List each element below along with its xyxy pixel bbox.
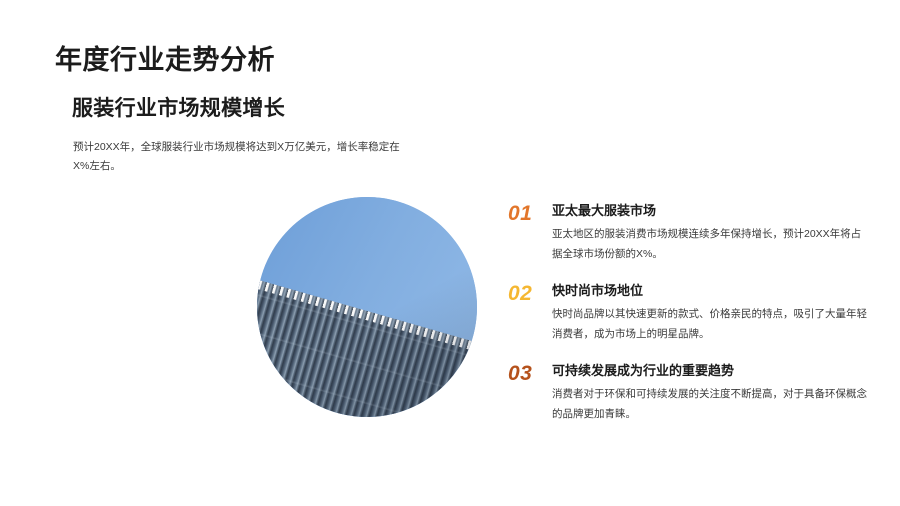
point-desc-02: 快时尚品牌以其快速更新的款式、价格亲民的特点，吸引了大量年轻消费者，成为市场上的… bbox=[552, 305, 868, 344]
point-desc-01: 亚太地区的服装消费市场规模连续多年保持增长，预计20XX年将占据全球市场份额的X… bbox=[552, 225, 868, 264]
point-number-01: 01 bbox=[508, 203, 532, 224]
photo-shading-overlay bbox=[257, 197, 477, 417]
section-body-text: 预计20XX年，全球服装行业市场规模将达到X万亿美元，增长率稳定在X%左右。 bbox=[73, 138, 403, 177]
point-title-03: 可持续发展成为行业的重要趋势 bbox=[552, 363, 868, 379]
point-title-02: 快时尚市场地位 bbox=[552, 283, 868, 299]
point-title-01: 亚太最大服装市场 bbox=[552, 203, 868, 219]
page-title: 年度行业走势分析 bbox=[55, 38, 275, 77]
point-desc-03: 消费者对于环保和可持续发展的关注度不断提高，对于具备环保概念的品牌更加青睐。 bbox=[552, 385, 868, 424]
point-number-02: 02 bbox=[508, 283, 532, 304]
list-item: 03 可持续发展成为行业的重要趋势 消费者对于环保和可持续发展的关注度不断提高，… bbox=[508, 363, 868, 424]
list-item: 01 亚太最大服装市场 亚太地区的服装消费市场规模连续多年保持增长，预计20XX… bbox=[508, 203, 868, 264]
list-item: 02 快时尚市场地位 快时尚品牌以其快速更新的款式、价格亲民的特点，吸引了大量年… bbox=[508, 283, 868, 344]
section-heading: 服装行业市场规模增长 bbox=[72, 92, 285, 122]
point-number-03: 03 bbox=[508, 363, 532, 384]
circular-architecture-photo bbox=[257, 197, 477, 417]
presentation-slide: 年度行业走势分析 服装行业市场规模增长 预计20XX年，全球服装行业市场规模将达… bbox=[0, 0, 900, 506]
key-points-list: 01 亚太最大服装市场 亚太地区的服装消费市场规模连续多年保持增长，预计20XX… bbox=[508, 203, 868, 443]
